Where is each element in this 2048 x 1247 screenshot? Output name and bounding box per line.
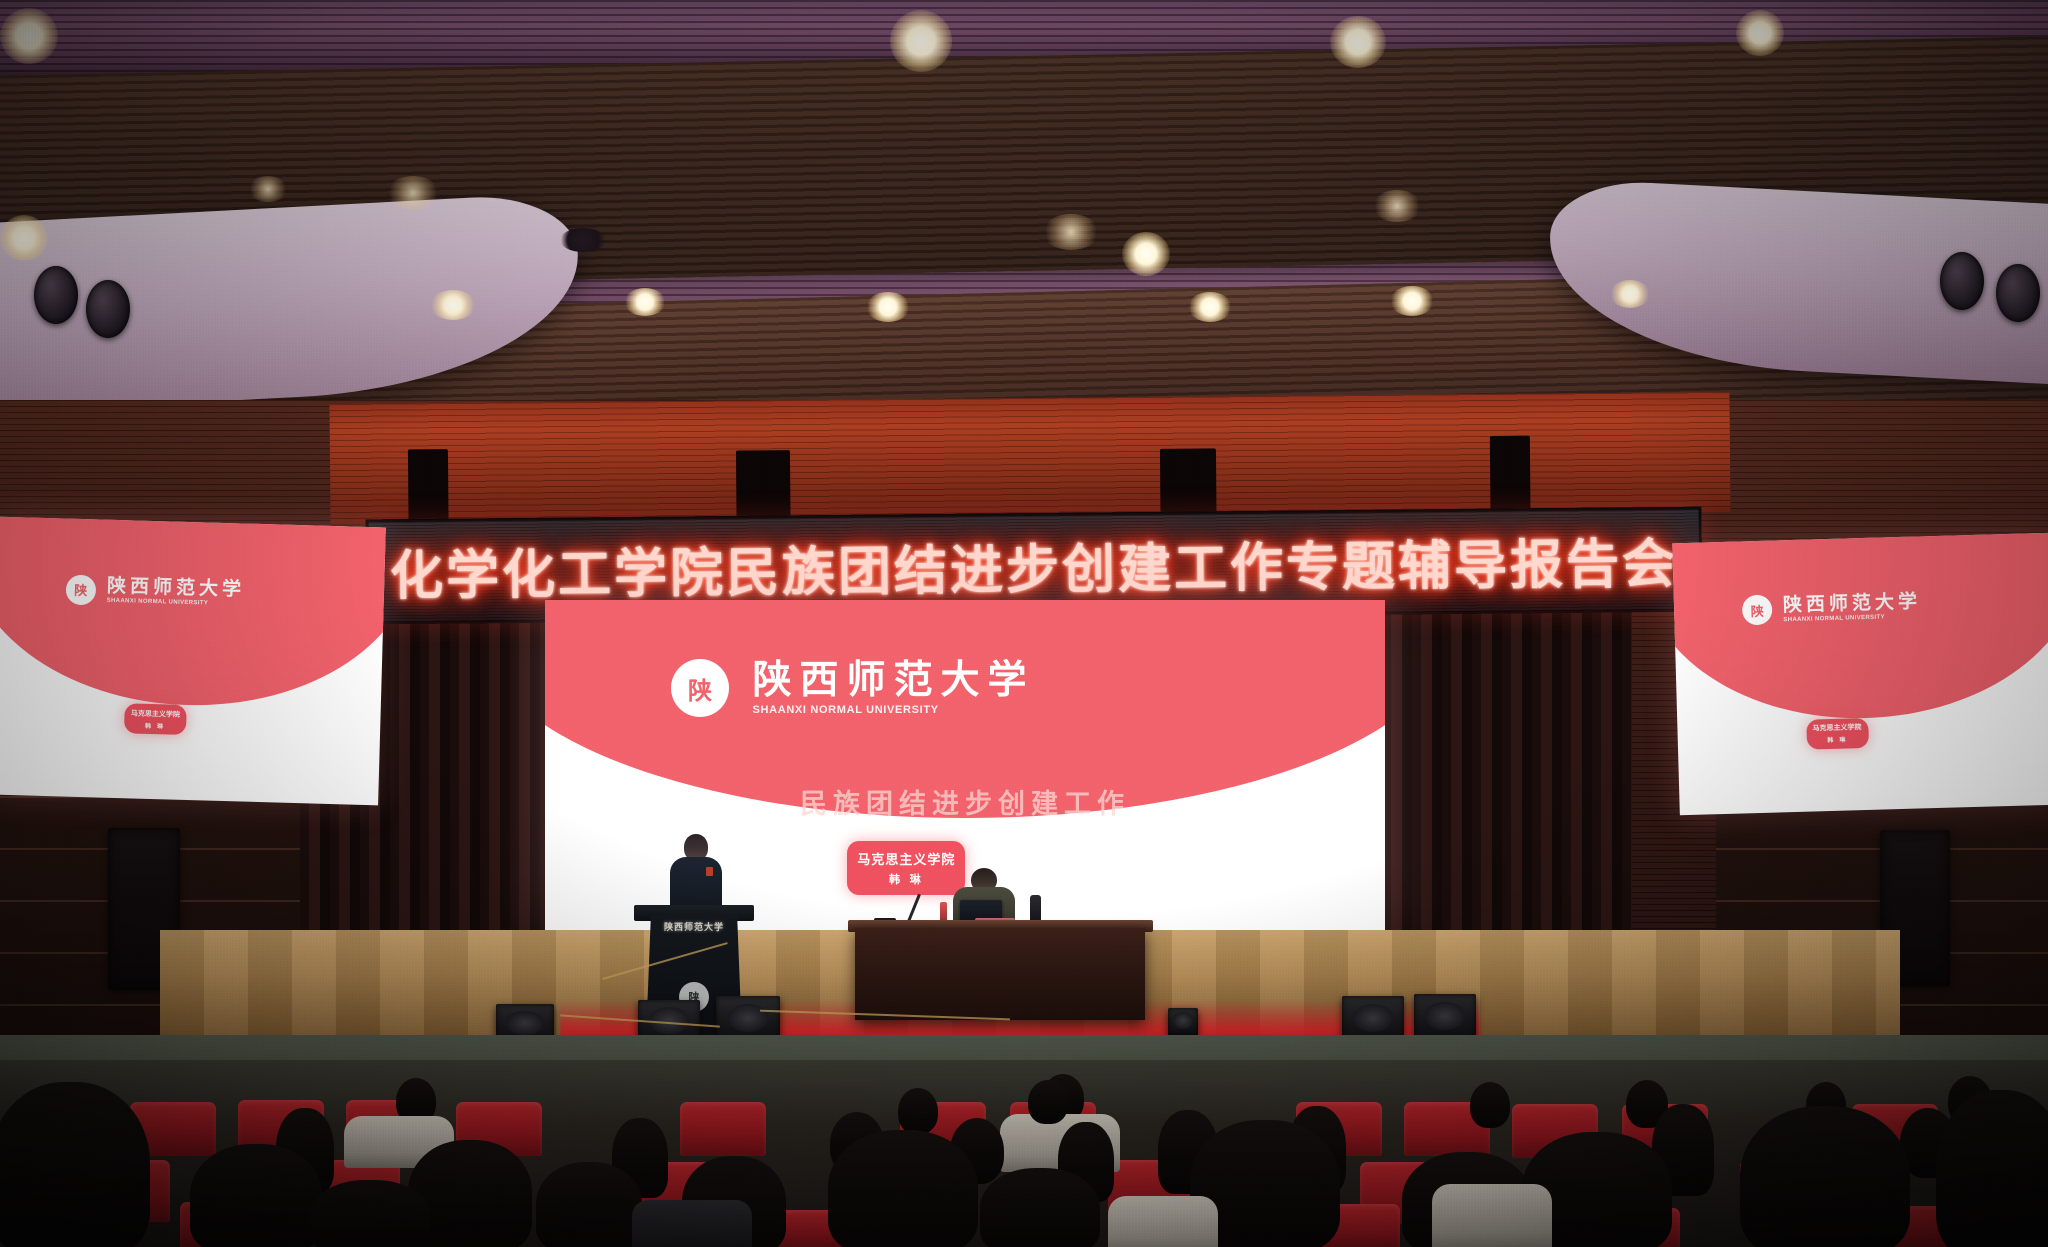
audience-head — [0, 1082, 150, 1247]
audience-head — [190, 1144, 322, 1247]
audience-shoulders — [1432, 1184, 1552, 1247]
ceiling-downlight — [1122, 232, 1170, 276]
speaker-at-podium — [670, 834, 722, 914]
audience-head — [1470, 1082, 1510, 1128]
presenter-table — [855, 928, 1145, 1020]
ceiling-downlight — [248, 176, 288, 202]
ceiling-downlight — [386, 176, 440, 210]
audience-head — [828, 1130, 978, 1247]
ceiling-speaker-icon — [34, 266, 78, 324]
podium-label: 陕西师范大学 — [645, 920, 743, 933]
led-banner-text: 化学化工学院民族团结进步创建工作专题辅导报告会 — [390, 521, 1679, 609]
university-seal-icon: 陕 — [671, 659, 729, 717]
university-seal-icon: 陕 — [1742, 595, 1773, 626]
ceiling-downlight — [1330, 16, 1386, 68]
audience-head — [310, 1180, 430, 1247]
header-beam — [330, 392, 1731, 524]
audience-head — [980, 1168, 1100, 1247]
department-badge-line2: 韩 琳 — [145, 721, 165, 731]
department-badge-line2: 韩 琳 — [1827, 735, 1847, 745]
department-badge-line1: 马克思主义学院 — [1812, 722, 1861, 733]
audience-head — [1740, 1106, 1910, 1247]
ceiling-downlight — [624, 288, 666, 316]
projection-screen-left: 陕 陕西师范大学 SHAANXI NORMAL UNIVERSITY 马克思主义… — [0, 517, 386, 806]
ceiling-downlight — [1610, 280, 1650, 308]
ceiling-speaker-icon — [1940, 252, 1984, 310]
audience-head — [536, 1162, 642, 1247]
university-name-cn: 陕西师范大学 — [753, 661, 1035, 702]
university-name-en: SHAANXI NORMAL UNIVERSITY — [753, 704, 1035, 716]
audience-head — [1936, 1090, 2048, 1247]
audience-shoulders — [1108, 1196, 1218, 1247]
ceiling-downlight — [866, 292, 910, 322]
ceiling — [0, 0, 2048, 430]
ceiling-downlight — [1188, 292, 1232, 322]
ceiling-speaker-icon — [1996, 264, 2040, 322]
audience-head — [1028, 1080, 1068, 1124]
slide-red-band — [0, 517, 386, 712]
auditorium-seat — [680, 1102, 766, 1156]
ceiling-downlight — [430, 290, 476, 320]
ceiling-downlight — [0, 8, 58, 64]
slide-ghost-title: 民族团结进步创建工作 — [545, 782, 1385, 821]
projection-screen-right: 陕 陕西师范大学 SHAANXI NORMAL UNIVERSITY 马克思主义… — [1672, 533, 2048, 815]
auditorium-photo: 化学化工学院民族团结进步创建工作专题辅导报告会 陕 陕西师范大学 SHAANXI… — [0, 0, 2048, 1247]
audience-area — [0, 1060, 2048, 1247]
ceiling-downlight — [1042, 214, 1100, 250]
department-badge-line2: 韩 琳 — [889, 871, 924, 887]
vent-panel — [408, 449, 449, 523]
ceiling-light-recess — [560, 228, 606, 252]
university-name-cn: 陕西师范大学 — [107, 577, 246, 601]
vent-panel — [736, 450, 791, 524]
stage-monitor-speaker — [1168, 1008, 1198, 1036]
university-seal-icon: 陕 — [65, 574, 96, 605]
department-badge-line1: 马克思主义学院 — [131, 708, 180, 719]
vent-panel — [1490, 436, 1531, 510]
ceiling-downlight — [1736, 10, 1784, 56]
ceiling-speaker-icon — [86, 280, 130, 338]
department-badge: 马克思主义学院 韩 琳 — [124, 704, 187, 736]
department-badge: 马克思主义学院 韩 琳 — [847, 841, 965, 895]
ceiling-downlight — [890, 10, 952, 72]
department-badge: 马克思主义学院 韩 琳 — [1806, 717, 1869, 749]
ceiling-downlight — [0, 215, 48, 261]
university-name-cn: 陕西师范大学 — [1783, 592, 1922, 616]
ceiling-downlight — [1372, 190, 1422, 222]
audience-head — [898, 1088, 938, 1134]
audience-shoulders — [632, 1200, 752, 1247]
slide-red-band — [1672, 533, 2048, 724]
slide-logo-row: 陕 陕西师范大学 SHAANXI NORMAL UNIVERSITY — [671, 659, 1259, 717]
speaker-lapel-badge — [706, 867, 713, 876]
ceiling-downlight — [1390, 286, 1434, 316]
department-badge-line1: 马克思主义学院 — [857, 849, 955, 868]
